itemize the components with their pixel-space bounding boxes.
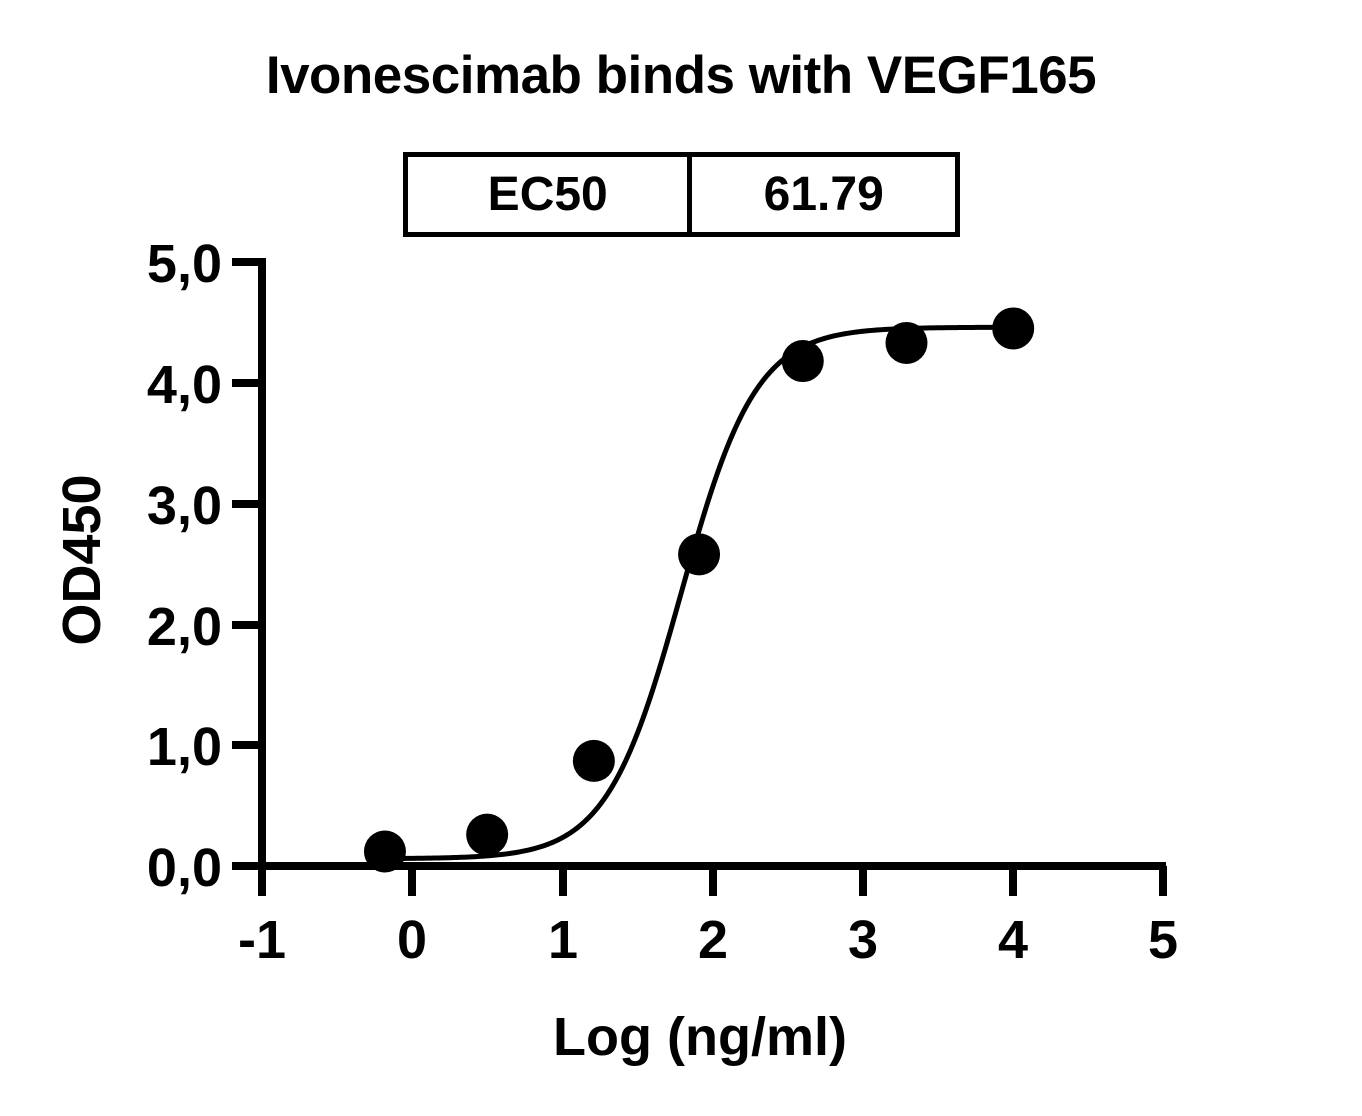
x-tick-label: 5 <box>1148 910 1178 970</box>
y-axis-ticks <box>232 262 262 866</box>
data-point <box>992 307 1034 349</box>
y-tick-label: 2,0 <box>147 597 222 657</box>
y-tick-label: 1,0 <box>147 717 222 777</box>
data-point <box>885 322 927 364</box>
data-point <box>573 740 615 782</box>
y-tick-label: 0,0 <box>147 838 222 898</box>
x-tick-label: 1 <box>548 910 578 970</box>
data-point <box>678 533 720 575</box>
y-tick-label: 3,0 <box>147 476 222 536</box>
x-tick-label: 0 <box>397 910 427 970</box>
plot-canvas: 5,0 4,0 3,0 2,0 1,0 0,0 -1 0 1 2 3 4 5 O… <box>0 0 1362 1116</box>
data-point <box>466 814 508 856</box>
x-tick-label: -1 <box>238 910 286 970</box>
x-tick-label: 4 <box>998 910 1028 970</box>
data-point-group <box>364 307 1034 872</box>
y-tick-label: 4,0 <box>147 355 222 415</box>
y-tick-label: 5,0 <box>147 234 222 294</box>
y-axis-title: OD450 <box>52 474 112 645</box>
x-axis-tick-labels: -1 0 1 2 3 4 5 <box>238 910 1178 970</box>
x-tick-label: 2 <box>698 910 728 970</box>
x-axis-ticks <box>262 866 1163 896</box>
y-axis-tick-labels: 5,0 4,0 3,0 2,0 1,0 0,0 <box>147 234 222 898</box>
figure-root: Ivonescimab binds with VEGF165 EC50 61.7… <box>0 0 1362 1116</box>
x-axis-title: Log (ng/ml) <box>553 1007 847 1067</box>
data-point <box>364 831 406 873</box>
x-tick-label: 3 <box>848 910 878 970</box>
fit-curve <box>374 327 1020 858</box>
data-point <box>782 340 824 382</box>
